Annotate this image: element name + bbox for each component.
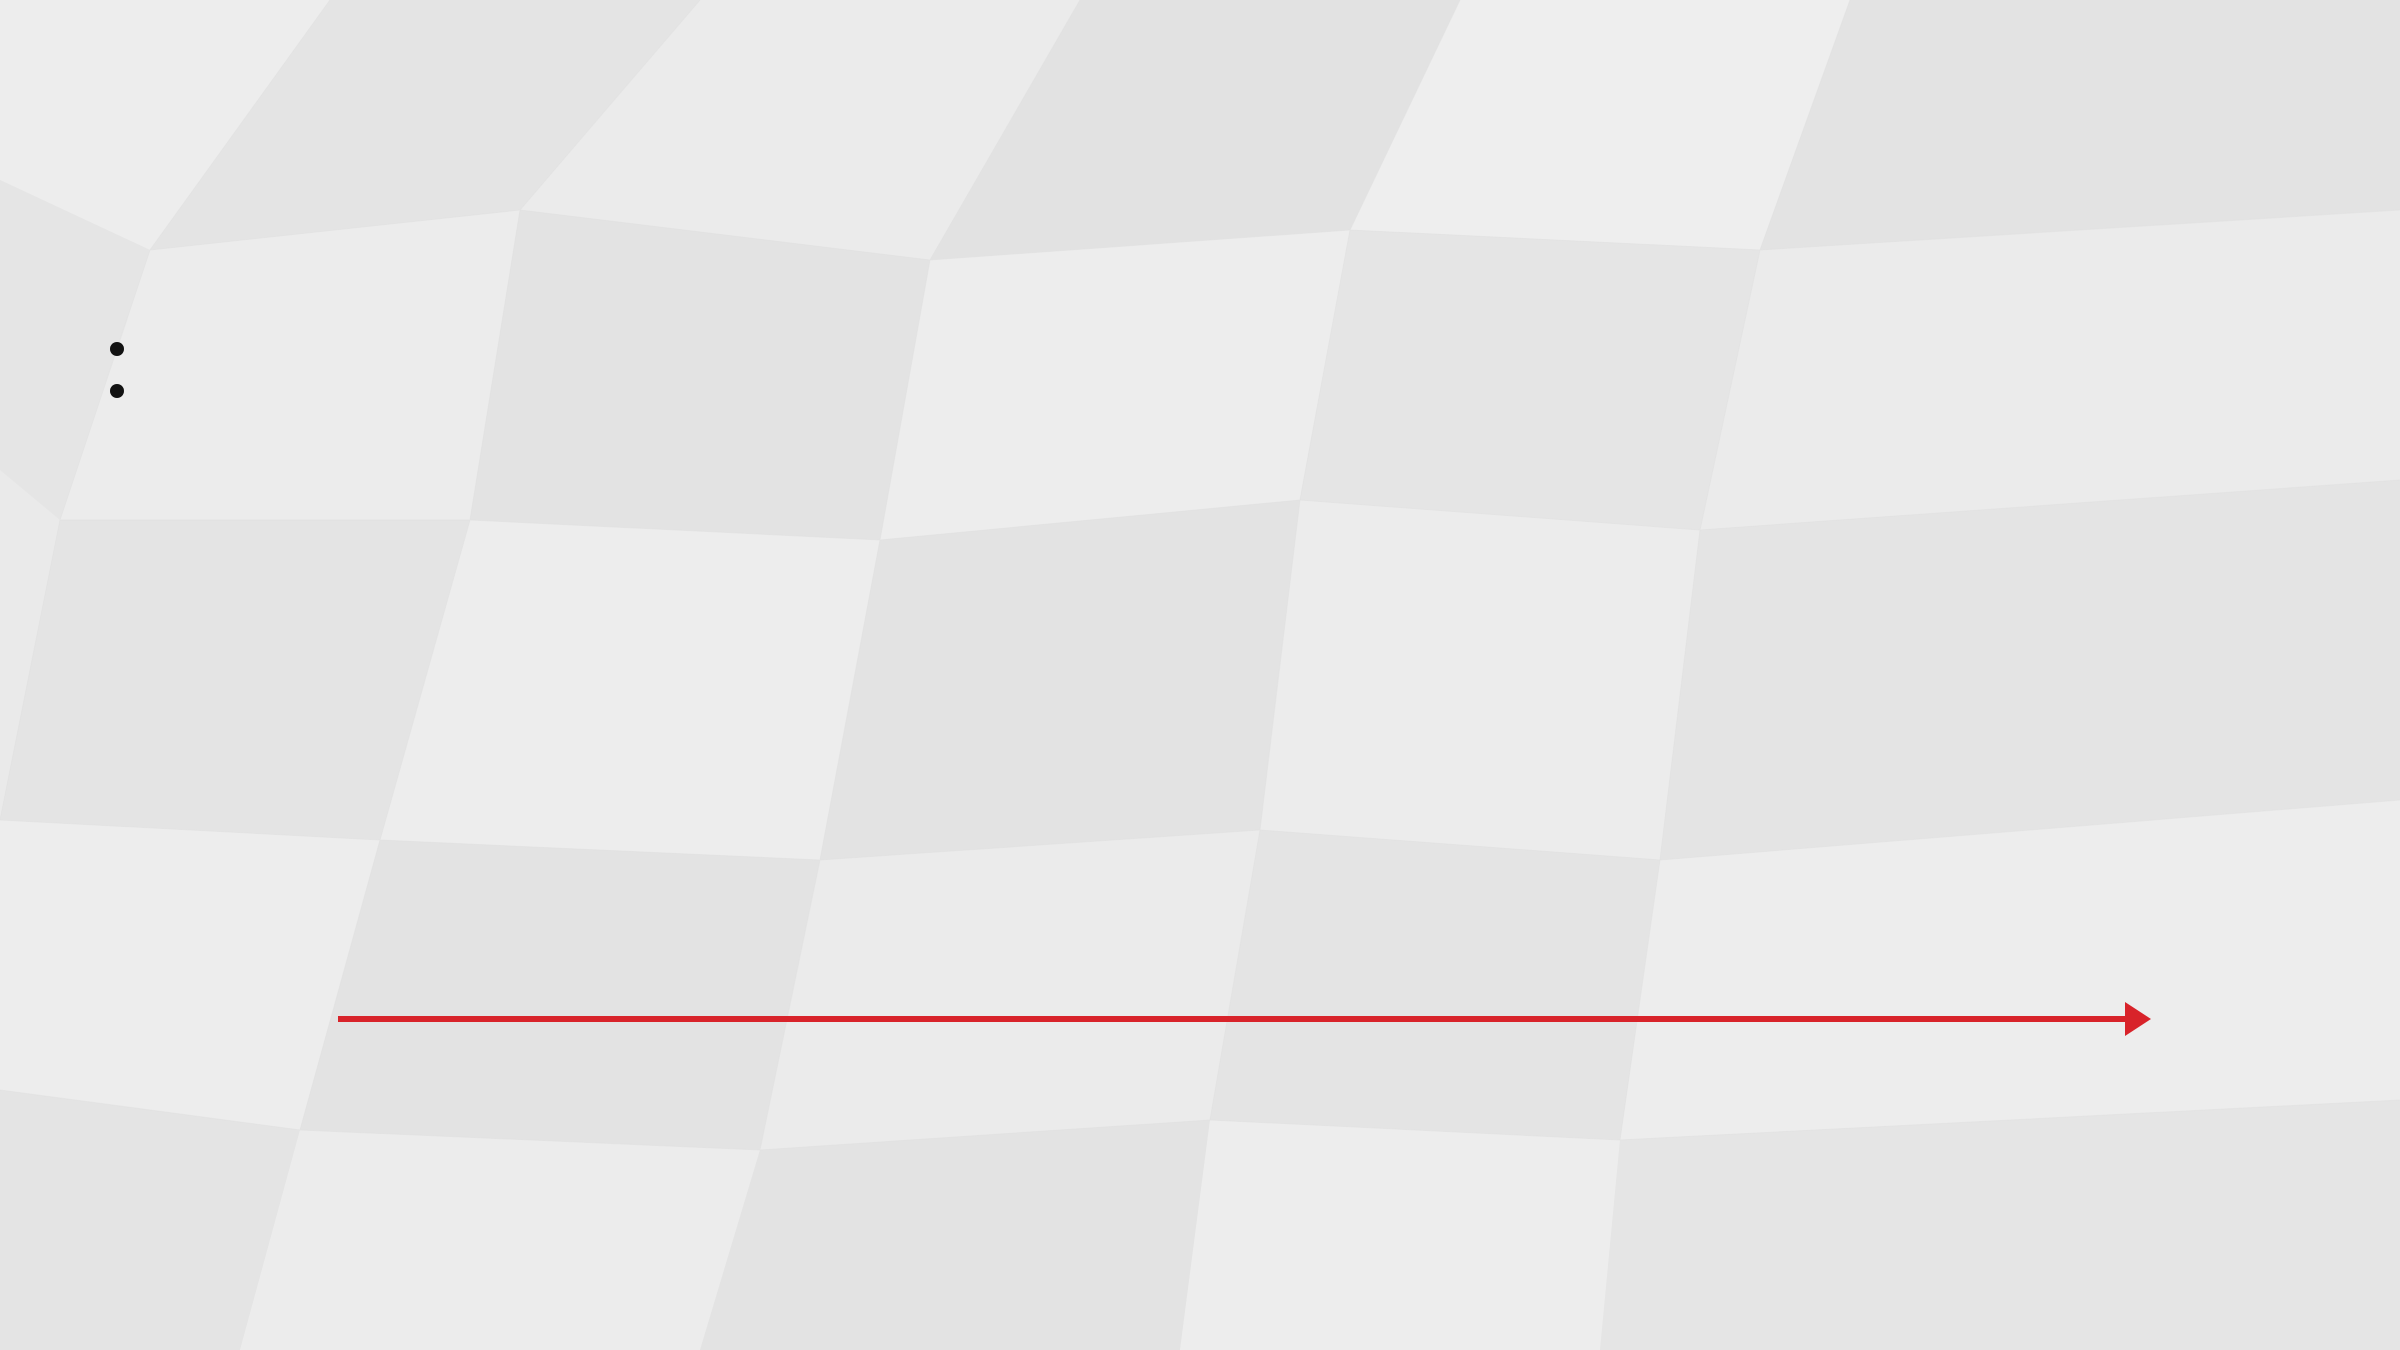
timeline-axis bbox=[338, 1016, 2133, 1022]
timeline-arrow-icon bbox=[2125, 1002, 2151, 1036]
policy-timeline bbox=[0, 0, 2400, 1350]
